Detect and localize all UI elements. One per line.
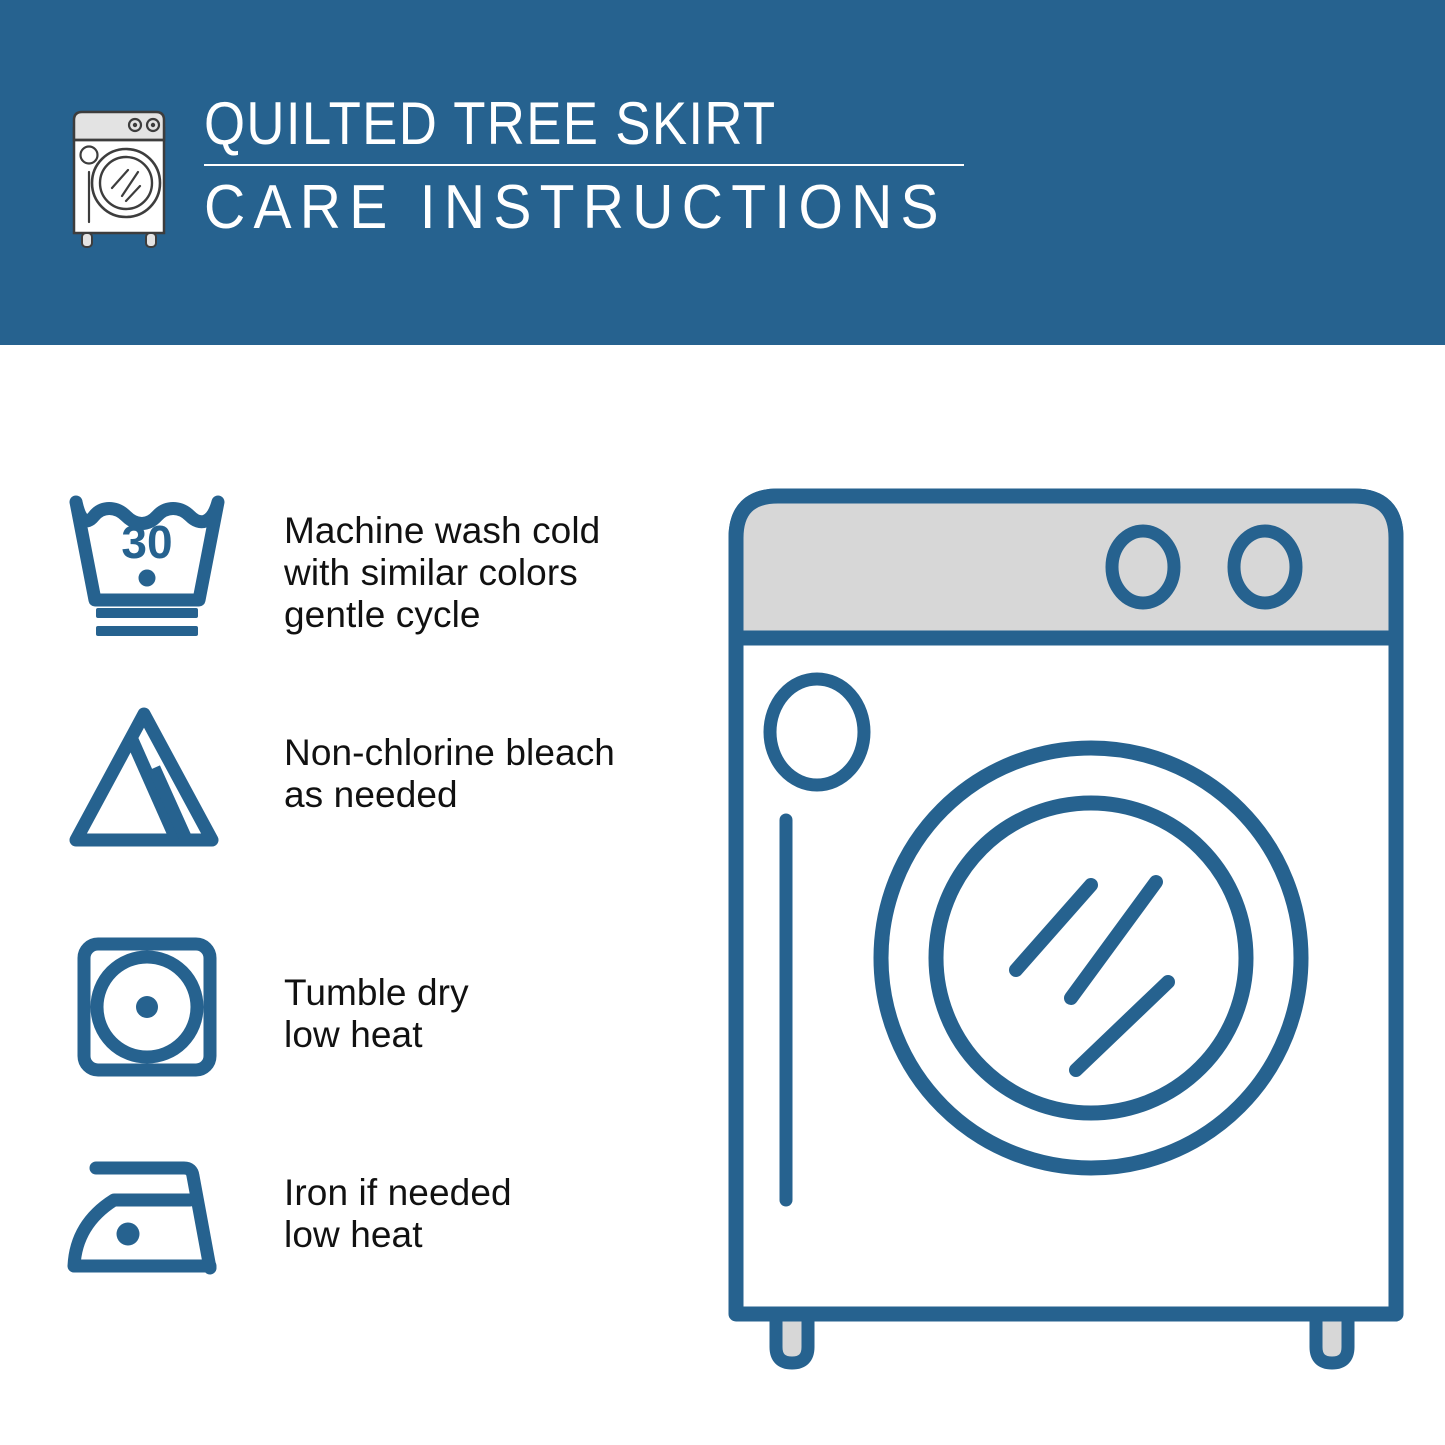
- wash-tub-30-icon: 30: [62, 480, 232, 640]
- care-row-bleach: Non-chlorine bleach as needed: [62, 698, 702, 858]
- large-washing-machine-illustration: [716, 470, 1416, 1370]
- care-label-bleach: Non-chlorine bleach as needed: [284, 698, 702, 816]
- wash-temperature-label: 30: [121, 516, 172, 568]
- care-label-iron: Iron if needed low heat: [284, 1140, 702, 1256]
- header-band: QUILTED TREE SKIRT CARE INSTRUCTIONS: [0, 0, 1445, 345]
- care-row-machine-wash: 30 Machine wash cold with similar colors…: [62, 480, 702, 640]
- page-subtitle: CARE INSTRUCTIONS: [204, 174, 955, 242]
- header-title-group: QUILTED TREE SKIRT CARE INSTRUCTIONS: [204, 92, 1020, 242]
- page-title: QUILTED TREE SKIRT: [204, 92, 922, 156]
- iron-icon: [62, 1140, 232, 1300]
- care-label-tumble-dry: Tumble dry low heat: [284, 928, 702, 1056]
- care-row-iron: Iron if needed low heat: [62, 1140, 702, 1300]
- tumble-dry-icon: [62, 928, 232, 1088]
- bleach-triangle-icon: [62, 698, 232, 858]
- washing-machine-icon: [60, 100, 178, 250]
- title-divider: [204, 164, 964, 166]
- header-content: QUILTED TREE SKIRT CARE INSTRUCTIONS: [60, 92, 1020, 262]
- care-row-tumble-dry: Tumble dry low heat: [62, 928, 702, 1088]
- care-instructions-page: QUILTED TREE SKIRT CARE INSTRUCTIONS 30: [0, 0, 1445, 1445]
- care-label-machine-wash: Machine wash cold with similar colors ge…: [284, 480, 702, 636]
